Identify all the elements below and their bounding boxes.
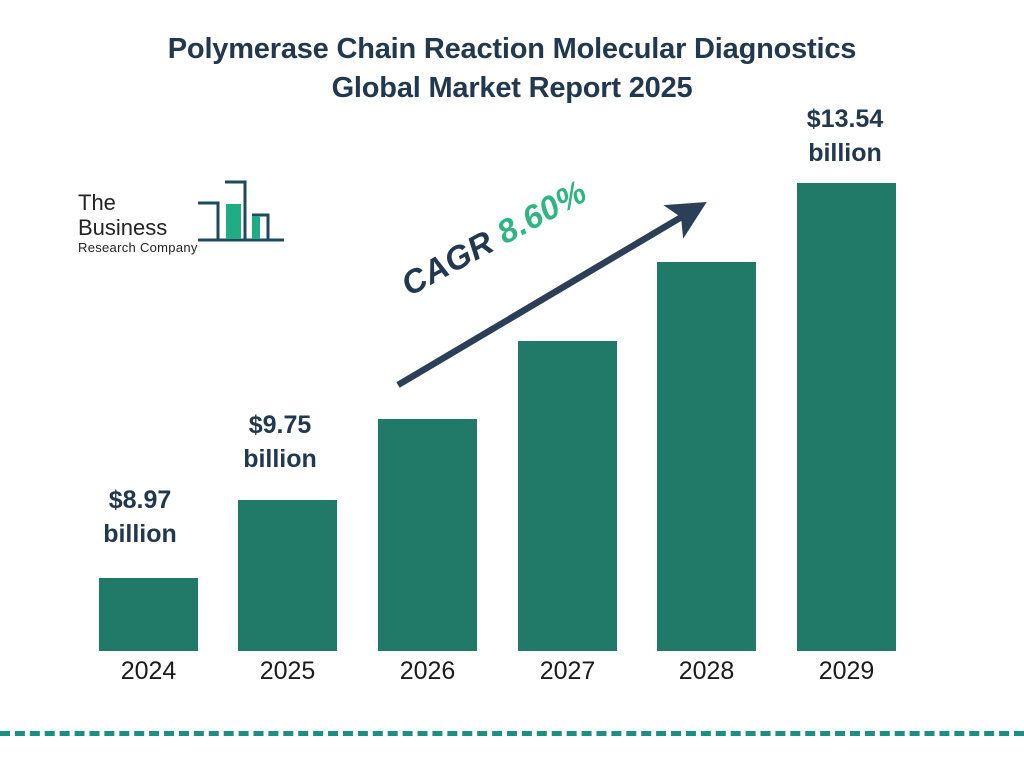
xtick-2026: 2026	[378, 657, 477, 686]
value-label-2024: $8.97 billion	[80, 484, 200, 551]
value-label-2029-unit: billion	[775, 137, 915, 171]
value-label-2024-unit: billion	[80, 518, 200, 552]
xtick-2027: 2027	[518, 657, 617, 686]
value-label-2025-unit: billion	[220, 443, 340, 477]
bar-2025	[238, 500, 337, 651]
xtick-2024: 2024	[99, 657, 198, 686]
footer-divider	[0, 731, 1024, 736]
value-label-2029-amount: $13.54	[775, 103, 915, 137]
value-label-2029: $13.54 billion	[775, 103, 915, 170]
xtick-2028: 2028	[657, 657, 756, 686]
chart-canvas: Polymerase Chain Reaction Molecular Diag…	[0, 0, 1024, 768]
xtick-2029: 2029	[797, 657, 896, 686]
bar-2024	[99, 578, 198, 651]
bar-2026	[378, 419, 477, 651]
value-label-2025: $9.75 billion	[220, 409, 340, 476]
xtick-2025: 2025	[238, 657, 337, 686]
value-label-2024-amount: $8.97	[80, 484, 200, 518]
bar-2029	[797, 183, 896, 651]
value-label-2025-amount: $9.75	[220, 409, 340, 443]
plot-area: 2024 2025 2026 2027 2028 2029 $8.97 bill…	[0, 0, 1024, 768]
